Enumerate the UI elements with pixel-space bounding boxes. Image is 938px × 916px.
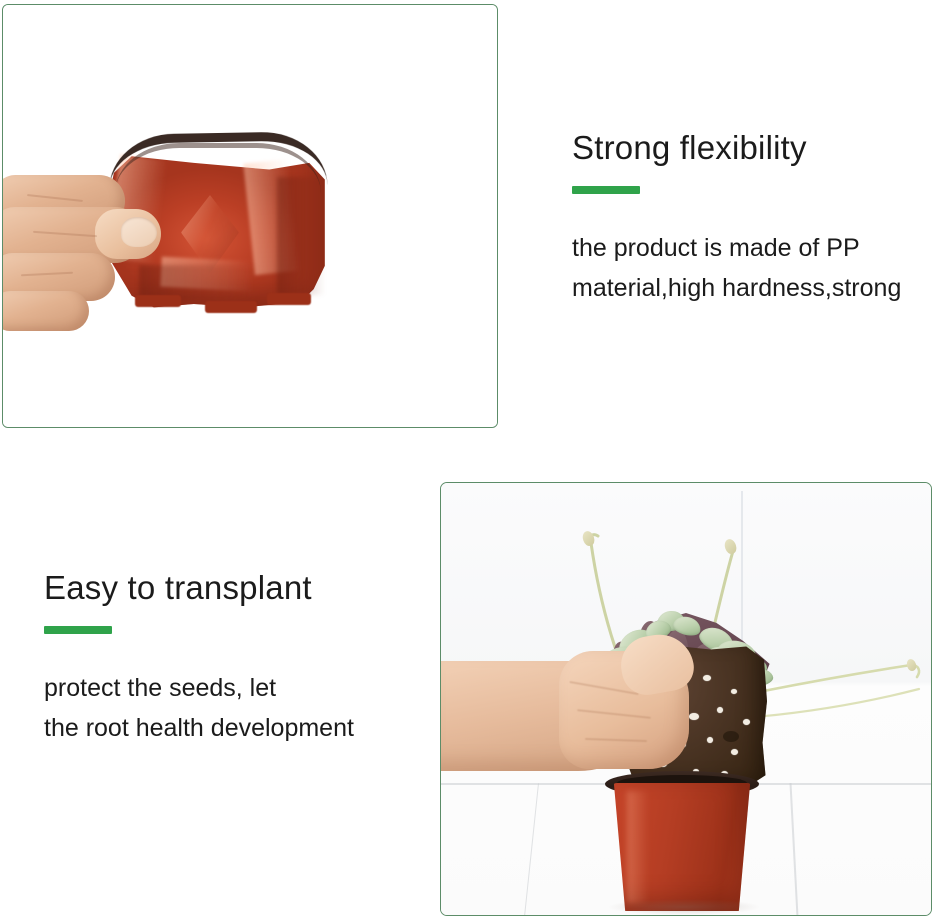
flexible-pot-photo <box>2 4 498 428</box>
perlite-speck <box>731 749 738 755</box>
fingernail <box>121 217 157 247</box>
skin-crease <box>585 738 647 742</box>
perlite-speck <box>717 707 723 713</box>
pot-highlight <box>627 791 649 903</box>
hand <box>2 173 168 323</box>
perlite-speck <box>703 675 711 681</box>
perlite-speck <box>689 713 699 720</box>
feature-description-line: the root health development <box>44 708 394 748</box>
feature-description: the product is made of PP material,high … <box>572 228 922 308</box>
feature-description-line: material,high hardness,strong <box>572 268 922 308</box>
infographic-canvas: Strong flexibility the product is made o… <box>0 0 938 916</box>
accent-bar <box>572 186 640 194</box>
soil-clump <box>723 731 739 742</box>
feature-title: Strong flexibility <box>572 128 922 168</box>
pot-foot <box>267 293 311 305</box>
feature-easy-to-transplant: Easy to transplant protect the seeds, le… <box>44 568 394 748</box>
perlite-speck <box>743 719 750 725</box>
feature-description: protect the seeds, let the root health d… <box>44 668 394 748</box>
perlite-speck <box>707 737 713 743</box>
finger <box>2 291 89 331</box>
perlite-speck <box>731 689 737 694</box>
pot-shadow <box>609 899 759 915</box>
transplant-photo <box>440 482 932 916</box>
skin-crease <box>577 709 651 719</box>
feature-description-line: protect the seeds, let <box>44 668 394 708</box>
feature-strong-flexibility: Strong flexibility the product is made o… <box>572 128 922 308</box>
feature-description-line: the product is made of PP <box>572 228 922 268</box>
pot-shading <box>277 177 325 295</box>
feature-title: Easy to transplant <box>44 568 394 608</box>
pot-foot <box>205 301 257 313</box>
accent-bar <box>44 626 112 634</box>
